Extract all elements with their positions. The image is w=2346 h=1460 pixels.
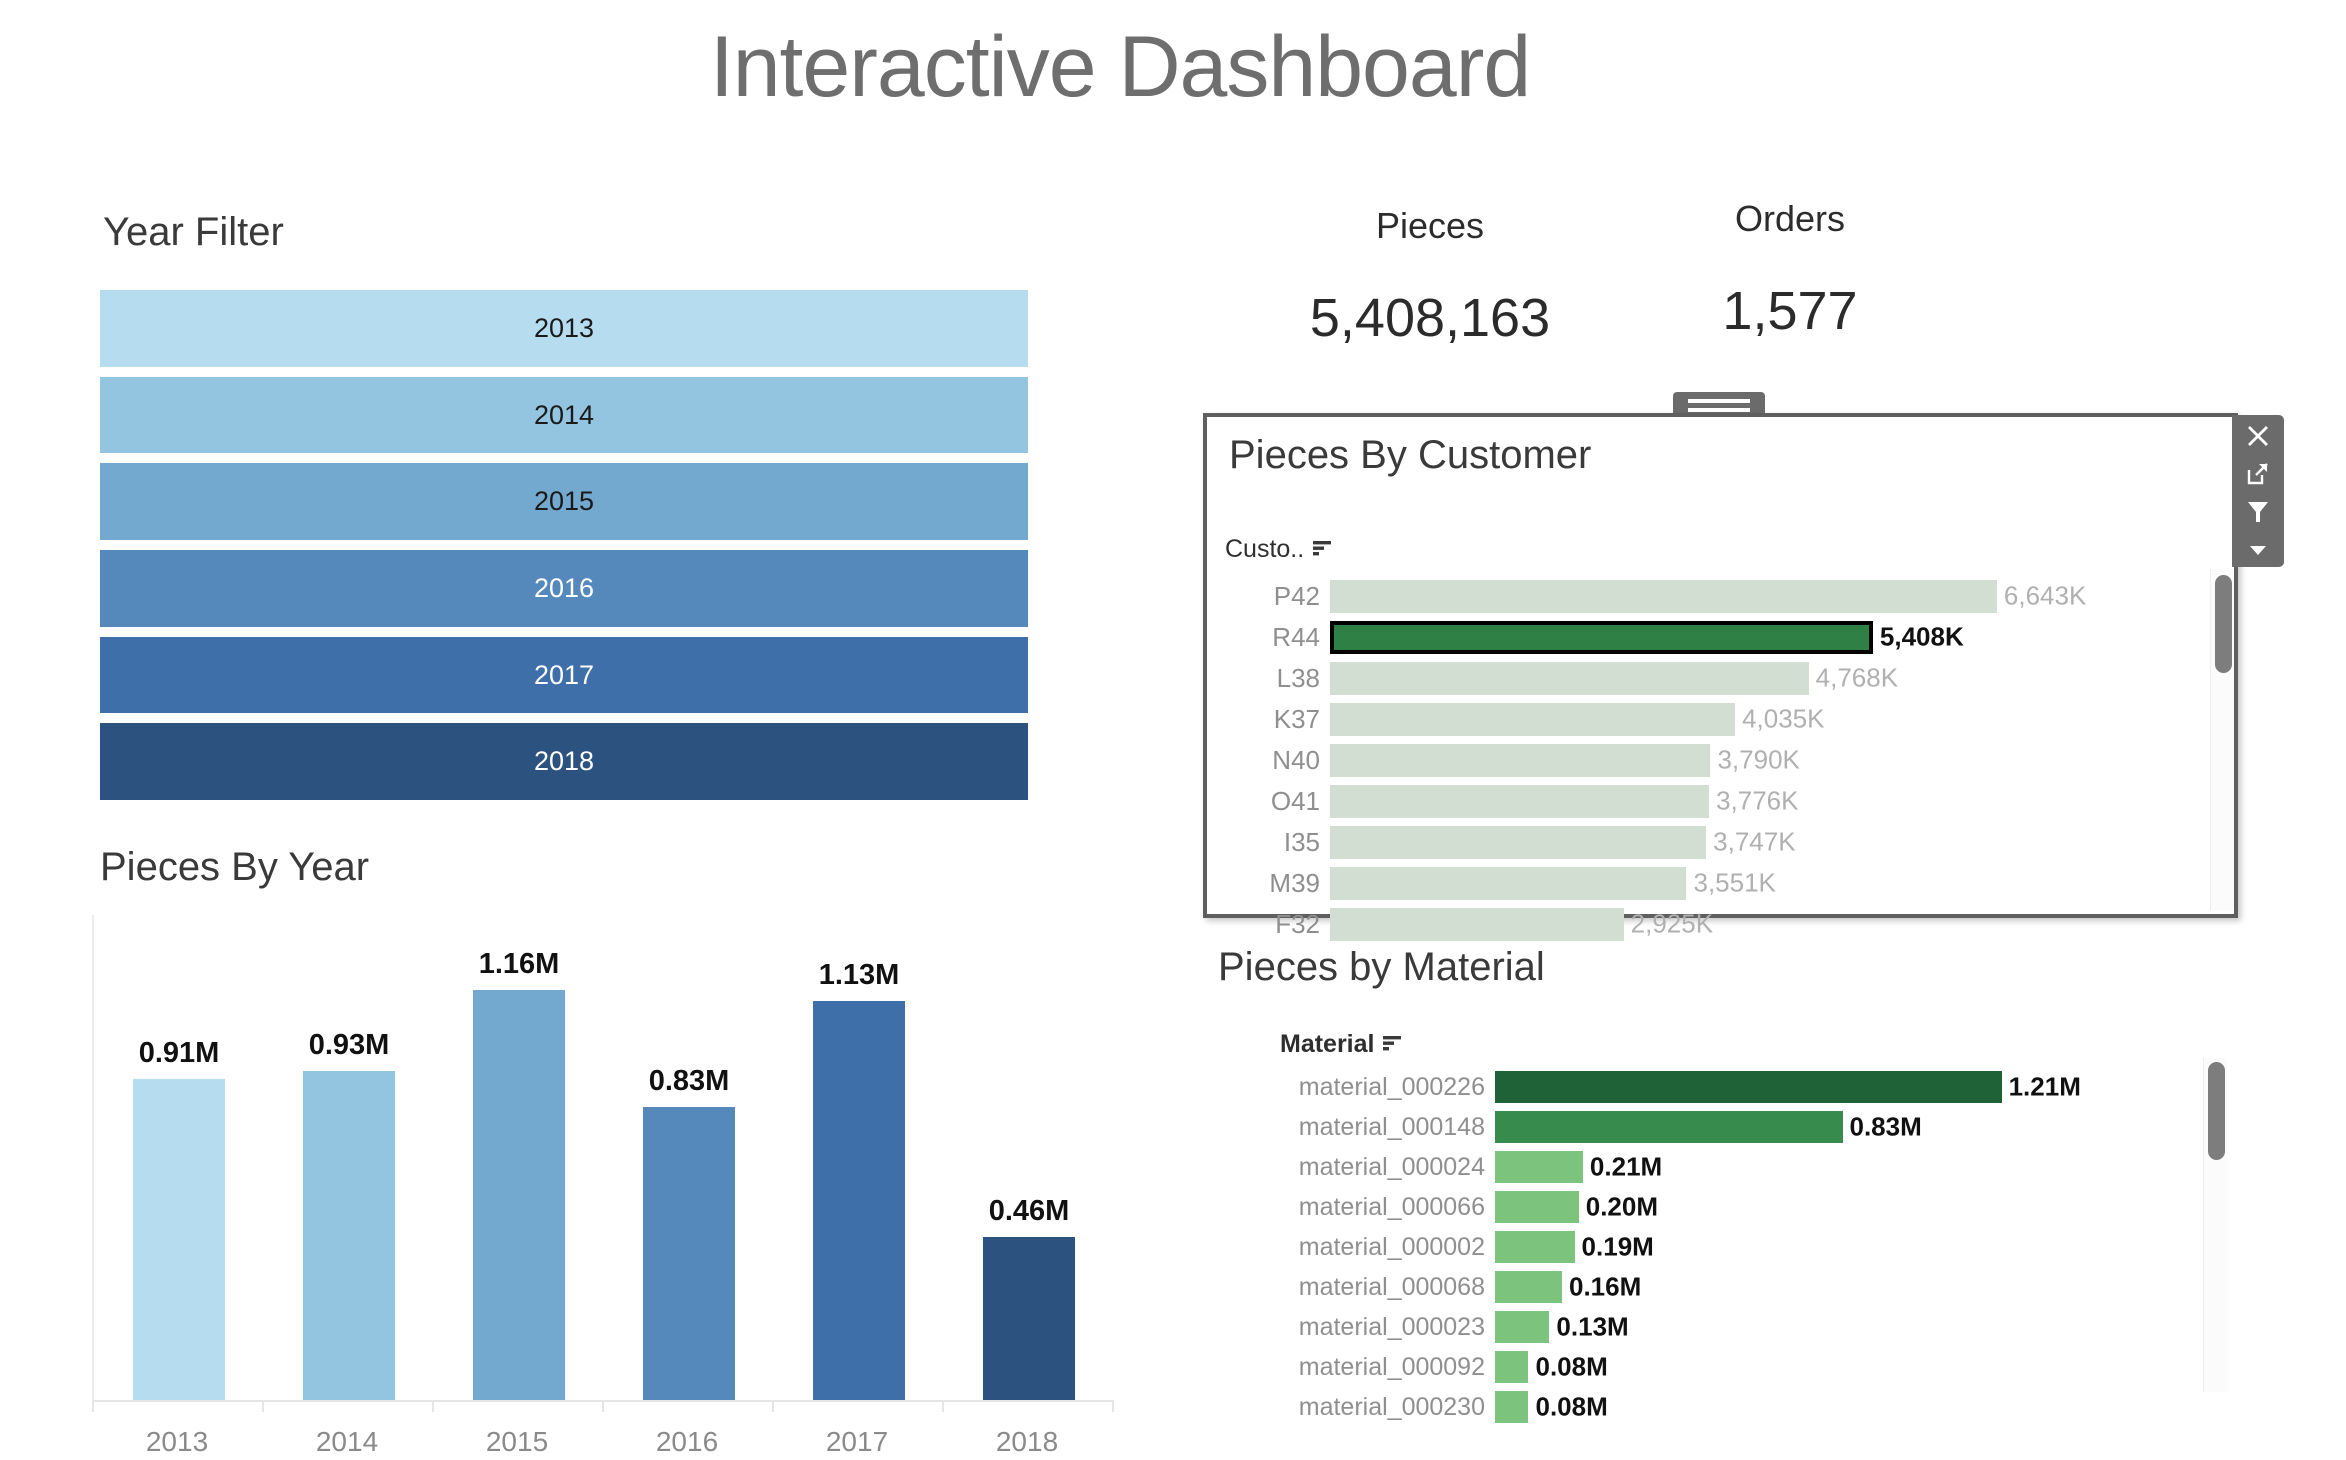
bar-row[interactable]: material_0002300.08M [1240, 1388, 2240, 1426]
bar-row[interactable]: material_0000660.20M [1240, 1188, 2240, 1226]
bar-track: 0.08M [1495, 1351, 2240, 1383]
bar-value-label: 3,790K [1710, 745, 1799, 776]
x-axis-tick [942, 1400, 944, 1412]
year-filter-list[interactable]: 201320142015201620172018 [100, 290, 1028, 800]
year-filter-item-2017[interactable]: 2017 [100, 637, 1028, 714]
bar-fill[interactable] [1495, 1311, 1549, 1343]
bar-value-label: 4,768K [1809, 663, 1898, 694]
bar-fill[interactable] [1330, 662, 1809, 695]
material-scrollbar-thumb[interactable] [2208, 1062, 2225, 1160]
x-axis-label: 2015 [486, 1426, 548, 1458]
bar-fill[interactable] [1495, 1191, 1579, 1223]
bar-fill[interactable] [1495, 1391, 1528, 1423]
bar-value-label: 0.19M [1575, 1232, 1654, 1263]
year-filter-item-label: 2016 [534, 573, 594, 604]
bar-column-2013[interactable]: 0.91M [133, 915, 225, 1400]
x-axis-label: 2013 [146, 1426, 208, 1458]
bar-row[interactable]: M393,551K [1225, 864, 2185, 902]
bar-row[interactable]: material_0000680.16M [1240, 1268, 2240, 1306]
bar-rect[interactable] [133, 1079, 225, 1401]
bar-value-label: 3,776K [1709, 786, 1798, 817]
bar-row[interactable]: N403,790K [1225, 741, 2185, 779]
close-icon[interactable] [2241, 421, 2275, 451]
x-axis-tick [262, 1400, 264, 1412]
pieces-by-customer-title: Pieces By Customer [1229, 433, 1591, 478]
bar-track: 0.16M [1495, 1271, 2240, 1303]
customer-column-label: Custo.. [1225, 535, 1304, 564]
bar-rect[interactable] [303, 1071, 395, 1400]
bar-track: 0.21M [1495, 1151, 2240, 1183]
bar-column-2014[interactable]: 0.93M [303, 915, 395, 1400]
bar-rect[interactable] [643, 1107, 735, 1400]
x-axis-label: 2014 [316, 1426, 378, 1458]
bar-fill[interactable] [1330, 908, 1624, 941]
bar-category-label: material_000092 [1240, 1353, 1495, 1382]
bar-category-label: material_000023 [1240, 1313, 1495, 1342]
material-column-header[interactable]: Material [1280, 1030, 1403, 1059]
year-filter-item-2015[interactable]: 2015 [100, 463, 1028, 540]
bar-category-label: F32 [1225, 909, 1330, 940]
customer-bar-list[interactable]: P426,643KR445,408KL384,768KK374,035KN403… [1225, 577, 2185, 946]
bar-rect[interactable] [983, 1237, 1075, 1400]
bar-category-label: R44 [1225, 622, 1330, 653]
x-axis-tick [1112, 1400, 1114, 1412]
chevron-down-icon[interactable] [2241, 535, 2275, 565]
bar-category-label: L38 [1225, 663, 1330, 694]
bar-row[interactable]: material_0000230.13M [1240, 1308, 2240, 1346]
bar-category-label: material_000066 [1240, 1193, 1495, 1222]
bar-value-label: 6,643K [1997, 581, 2086, 612]
bar-row[interactable]: material_0000020.19M [1240, 1228, 2240, 1266]
bar-row[interactable]: O413,776K [1225, 782, 2185, 820]
bar-value-label: 2,925K [1624, 909, 1713, 940]
year-filter-item-label: 2018 [534, 746, 594, 777]
bar-category-label: N40 [1225, 745, 1330, 776]
bar-category-label: O41 [1225, 786, 1330, 817]
sort-icon[interactable] [1311, 535, 1333, 564]
x-axis-label: 2018 [996, 1426, 1058, 1458]
bar-value-label: 5,408K [1873, 622, 1964, 653]
kpi-pieces-label: Pieces [1240, 205, 1620, 247]
bar-row[interactable]: L384,768K [1225, 659, 2185, 697]
bar-row[interactable]: I353,747K [1225, 823, 2185, 861]
drag-handle-line [1688, 408, 1750, 412]
bar-value-label: 0.46M [989, 1195, 1070, 1228]
bar-category-label: material_000002 [1240, 1233, 1495, 1262]
bar-fill[interactable] [1330, 744, 1710, 777]
bar-row[interactable]: R445,408K [1225, 618, 2185, 656]
filter-icon[interactable] [2241, 497, 2275, 527]
bar-track: 2,925K [1330, 908, 2185, 941]
bar-row[interactable]: material_0000240.21M [1240, 1148, 2240, 1186]
year-filter-item-label: 2013 [534, 313, 594, 344]
bar-value-label: 0.08M [1528, 1392, 1607, 1423]
bar-value-label: 0.91M [139, 1037, 220, 1070]
bar-track: 1.21M [1495, 1071, 2240, 1103]
year-filter-item-2013[interactable]: 2013 [100, 290, 1028, 367]
customer-scrollbar[interactable] [2210, 569, 2234, 910]
pieces-by-year-plot-area: 0.91M0.93M1.16M0.83M1.13M0.46M [92, 915, 1112, 1400]
bar-track: 0.08M [1495, 1391, 2240, 1423]
bar-track: 0.13M [1495, 1311, 2240, 1343]
bar-category-label: material_000024 [1240, 1153, 1495, 1182]
drag-handle-line [1688, 399, 1750, 403]
x-axis-tick [432, 1400, 434, 1412]
kpi-pieces-value: 5,408,163 [1240, 287, 1620, 349]
bar-fill-selected[interactable] [1330, 621, 1873, 654]
bar-row[interactable]: material_0000920.08M [1240, 1348, 2240, 1386]
pieces-by-year-chart[interactable]: 0.91M0.93M1.16M0.83M1.13M0.46M 201320142… [92, 915, 1112, 1460]
bar-category-label: material_000068 [1240, 1273, 1495, 1302]
year-filter-item-label: 2015 [534, 486, 594, 517]
bar-track: 3,776K [1330, 785, 2185, 818]
page-title: Interactive Dashboard [0, 18, 2240, 117]
year-filter-item-label: 2017 [534, 660, 594, 691]
bar-track: 5,408K [1330, 621, 2185, 654]
bar-row[interactable]: material_0001480.83M [1240, 1108, 2240, 1146]
bar-row[interactable]: K374,035K [1225, 700, 2185, 738]
bar-column-2015[interactable]: 1.16M [473, 915, 565, 1400]
bar-value-label: 0.20M [1579, 1192, 1658, 1223]
year-filter-item-2018[interactable]: 2018 [100, 723, 1028, 800]
bar-category-label: material_000226 [1240, 1073, 1495, 1102]
bar-rect[interactable] [473, 990, 565, 1400]
bar-category-label: material_000230 [1240, 1393, 1495, 1422]
bar-category-label: I35 [1225, 827, 1330, 858]
kpi-orders-label: Orders [1645, 198, 1935, 240]
bar-track: 4,035K [1330, 703, 2185, 736]
year-filter-title: Year Filter [103, 210, 284, 255]
bar-track: 0.19M [1495, 1231, 2240, 1263]
bar-row[interactable]: F322,925K [1225, 905, 2185, 943]
pieces-by-material-title: Pieces by Material [1218, 945, 1545, 990]
bar-fill[interactable] [1330, 826, 1706, 859]
bar-track: 3,551K [1330, 867, 2185, 900]
sort-icon[interactable] [1381, 1030, 1403, 1059]
bar-column-2018[interactable]: 0.46M [983, 915, 1075, 1400]
bar-track: 3,790K [1330, 744, 2185, 777]
bar-value-label: 0.83M [1843, 1112, 1922, 1143]
bar-category-label: M39 [1225, 868, 1330, 899]
bar-category-label: P42 [1225, 581, 1330, 612]
bar-track: 4,768K [1330, 662, 2185, 695]
bar-fill[interactable] [1330, 703, 1735, 736]
bar-fill[interactable] [1330, 867, 1686, 900]
material-scrollbar[interactable] [2203, 1058, 2227, 1392]
bar-row[interactable]: material_0002261.21M [1240, 1068, 2240, 1106]
pieces-by-customer-popup[interactable]: Pieces By Customer Custo.. P426,643KR445… [1203, 413, 2238, 918]
x-axis-tick [772, 1400, 774, 1412]
bar-value-label: 0.83M [649, 1065, 730, 1098]
bar-value-label: 0.08M [1528, 1352, 1607, 1383]
year-filter-item-2014[interactable]: 2014 [100, 377, 1028, 454]
bar-fill[interactable] [1495, 1151, 1583, 1183]
bar-fill[interactable] [1495, 1351, 1528, 1383]
customer-column-header[interactable]: Custo.. [1225, 535, 1333, 564]
bar-track: 3,747K [1330, 826, 2185, 859]
kpi-pieces: Pieces 5,408,163 [1240, 205, 1620, 349]
popup-toolbar[interactable] [2232, 415, 2284, 567]
kpi-orders: Orders 1,577 [1645, 198, 1935, 342]
bar-value-label: 0.13M [1549, 1312, 1628, 1343]
bar-value-label: 0.16M [1562, 1272, 1641, 1303]
pieces-by-year-title: Pieces By Year [100, 845, 369, 890]
bar-row[interactable]: P426,643K [1225, 577, 2185, 615]
bar-track: 6,643K [1330, 580, 2185, 613]
bar-category-label: K37 [1225, 704, 1330, 735]
bar-value-label: 0.21M [1583, 1152, 1662, 1183]
material-column-label: Material [1280, 1030, 1374, 1059]
bar-value-label: 3,551K [1686, 868, 1775, 899]
x-axis-label: 2017 [826, 1426, 888, 1458]
bar-fill[interactable] [1330, 785, 1709, 818]
bar-fill[interactable] [1495, 1111, 1843, 1143]
bar-value-label: 1.16M [479, 948, 560, 981]
x-axis-label: 2016 [656, 1426, 718, 1458]
bar-value-label: 1.21M [2002, 1072, 2081, 1103]
bar-fill[interactable] [1495, 1271, 1562, 1303]
bar-column-2017[interactable]: 1.13M [813, 915, 905, 1400]
kpi-orders-value: 1,577 [1645, 280, 1935, 342]
bar-rect[interactable] [813, 1001, 905, 1400]
year-filter-item-2016[interactable]: 2016 [100, 550, 1028, 627]
bar-value-label: 4,035K [1735, 704, 1824, 735]
customer-scrollbar-thumb[interactable] [2215, 575, 2232, 673]
bar-value-label: 1.13M [819, 959, 900, 992]
bar-fill[interactable] [1495, 1231, 1575, 1263]
bar-category-label: material_000148 [1240, 1113, 1495, 1142]
bar-fill[interactable] [1495, 1071, 2002, 1103]
external-link-icon[interactable] [2241, 459, 2275, 489]
bar-fill[interactable] [1330, 580, 1997, 613]
year-filter-item-label: 2014 [534, 400, 594, 431]
x-axis-tick [92, 1400, 94, 1412]
x-axis-tick [602, 1400, 604, 1412]
bar-column-2016[interactable]: 0.83M [643, 915, 735, 1400]
material-bar-list[interactable]: material_0002261.21Mmaterial_0001480.83M… [1240, 1068, 2240, 1428]
bar-value-label: 0.93M [309, 1029, 390, 1062]
bar-track: 0.83M [1495, 1111, 2240, 1143]
bar-value-label: 3,747K [1706, 827, 1795, 858]
bar-track: 0.20M [1495, 1191, 2240, 1223]
